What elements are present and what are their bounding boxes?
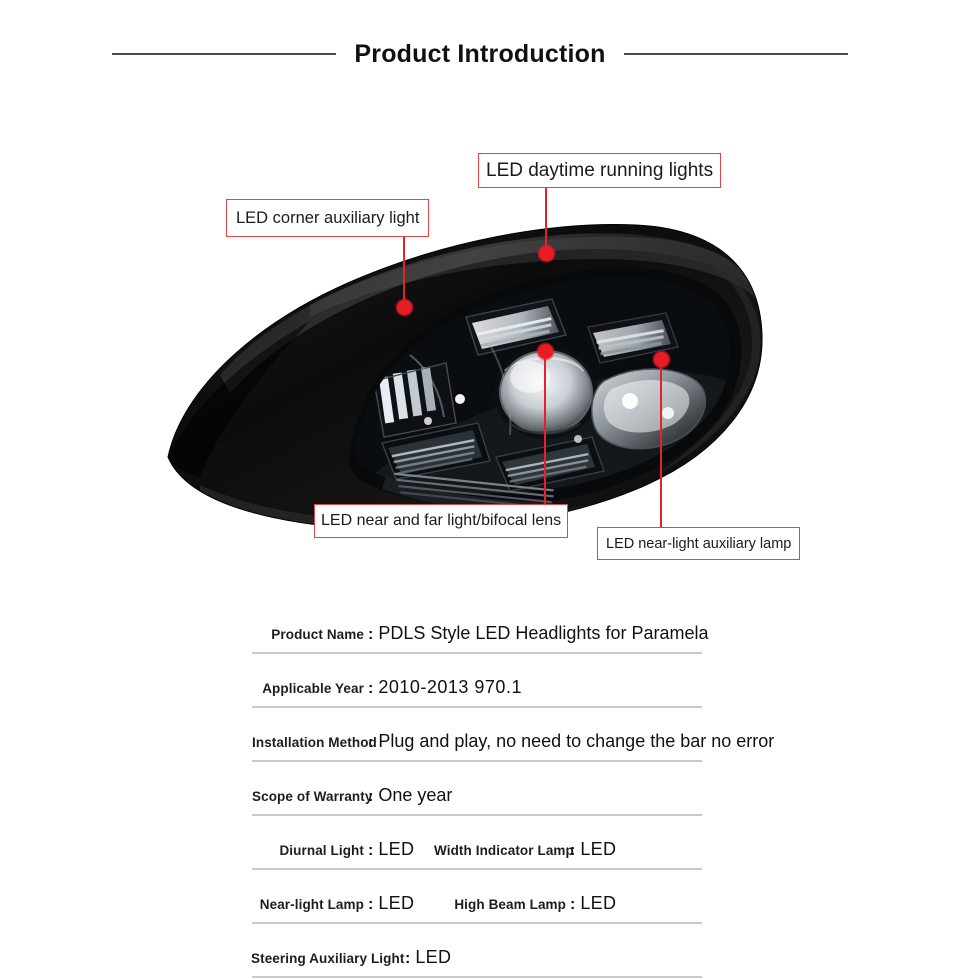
spec-row-product-name: Product Name : PDLS Style LED Headlights… [252,600,702,654]
callout-label-bifocal: LED near and far light/bifocal lens [321,512,561,530]
spec-colon: : [364,842,378,860]
spec-colon: : [364,734,378,752]
spec-value-high-beam-lamp: LED [580,893,616,914]
spec-row-applicable-year: Applicable Year : 2010-2013 970.1 [252,654,702,708]
header-rule-left [112,53,336,55]
spec-row-steering-auxiliary-light: Steering Auxiliary Light : LED [252,924,702,978]
spec-colon: : [364,626,378,644]
callout-led-near-light-auxiliary-lamp: LED near-light auxiliary lamp [597,527,800,560]
marker-dot-drl [539,246,554,261]
spec-cell-width-indicator-lamp: Width Indicator Lamp : LED [434,839,616,860]
callout-label-corner: LED corner auxiliary light [236,209,419,228]
spec-row-near-light-lamp: Near-light Lamp : LED High Beam Lamp : L… [252,870,702,924]
specification-table: Product Name : PDLS Style LED Headlights… [252,600,702,978]
header-rule-right [624,53,848,55]
headlight-illustration [160,185,770,555]
leader-line-corner [403,237,405,307]
spec-colon: : [364,788,378,806]
spec-label-near-light-lamp: Near-light Lamp [252,897,364,912]
callout-label-drl: LED daytime running lights [486,160,713,182]
marker-dot-bifocal [538,344,553,359]
spec-label-applicable-year: Applicable Year [252,681,364,696]
spec-cell-near-light-lamp: Near-light Lamp : LED [252,893,414,914]
marker-dot-near-aux [654,352,669,367]
spec-label-scope-of-warranty: Scope of Warranty [252,789,364,804]
spec-row-scope-of-warranty: Scope of Warranty : One year [252,762,702,816]
spec-label-diurnal-light: Diurnal Light [252,843,364,858]
spec-row-installation-method: Installation Method : Plug and play, no … [252,708,702,762]
callout-led-corner-auxiliary-light: LED corner auxiliary light [226,199,429,237]
leader-line-drl [545,188,547,253]
spec-cell-scope-of-warranty: Scope of Warranty : One year [252,785,452,806]
spec-colon: : [364,680,378,698]
spec-label-steering-auxiliary-light: Steering Auxiliary Light [251,951,401,966]
spec-value-scope-of-warranty: One year [378,785,452,806]
callout-led-near-and-far-light-bifocal-lens: LED near and far light/bifocal lens [314,504,568,538]
spec-label-width-indicator-lamp: Width Indicator Lamp [434,843,566,858]
spec-value-product-name: PDLS Style LED Headlights for Paramela [378,623,708,644]
spec-value-width-indicator-lamp: LED [580,839,616,860]
spec-cell-installation-method: Installation Method : Plug and play, no … [252,731,774,752]
spec-value-steering-auxiliary-light: LED [415,947,451,968]
spec-label-product-name: Product Name [252,627,364,642]
spec-value-near-light-lamp: LED [378,893,414,914]
page-title: Product Introduction [354,40,605,69]
spec-colon: : [566,896,580,914]
spec-colon: : [364,896,378,914]
spec-cell-applicable-year: Applicable Year : 2010-2013 970.1 [252,677,522,698]
spec-label-high-beam-lamp: High Beam Lamp [434,897,566,912]
page-header: Product Introduction [0,34,960,74]
marker-dot-corner [397,300,412,315]
leader-line-near-aux [660,359,662,527]
callout-label-near-aux: LED near-light auxiliary lamp [606,536,791,552]
spec-cell-product-name: Product Name : PDLS Style LED Headlights… [252,623,708,644]
spec-value-installation-method: Plug and play, no need to change the bar… [378,731,774,752]
leader-line-bifocal [544,351,546,504]
callout-led-daytime-running-lights: LED daytime running lights [478,153,721,188]
spec-cell-high-beam-lamp: High Beam Lamp : LED [434,893,616,914]
spec-label-installation-method: Installation Method [252,735,364,750]
spec-row-diurnal-light: Diurnal Light : LED Width Indicator Lamp… [252,816,702,870]
spec-cell-steering-auxiliary-light: Steering Auxiliary Light : LED [251,947,451,968]
spec-value-applicable-year: 2010-2013 970.1 [378,677,522,698]
product-introduction-page: Product Introduction [0,0,960,960]
headlight-product-image [160,185,770,555]
spec-value-diurnal-light: LED [378,839,414,860]
spec-colon: : [566,842,580,860]
spec-cell-diurnal-light: Diurnal Light : LED [252,839,414,860]
spec-colon: : [401,950,415,968]
